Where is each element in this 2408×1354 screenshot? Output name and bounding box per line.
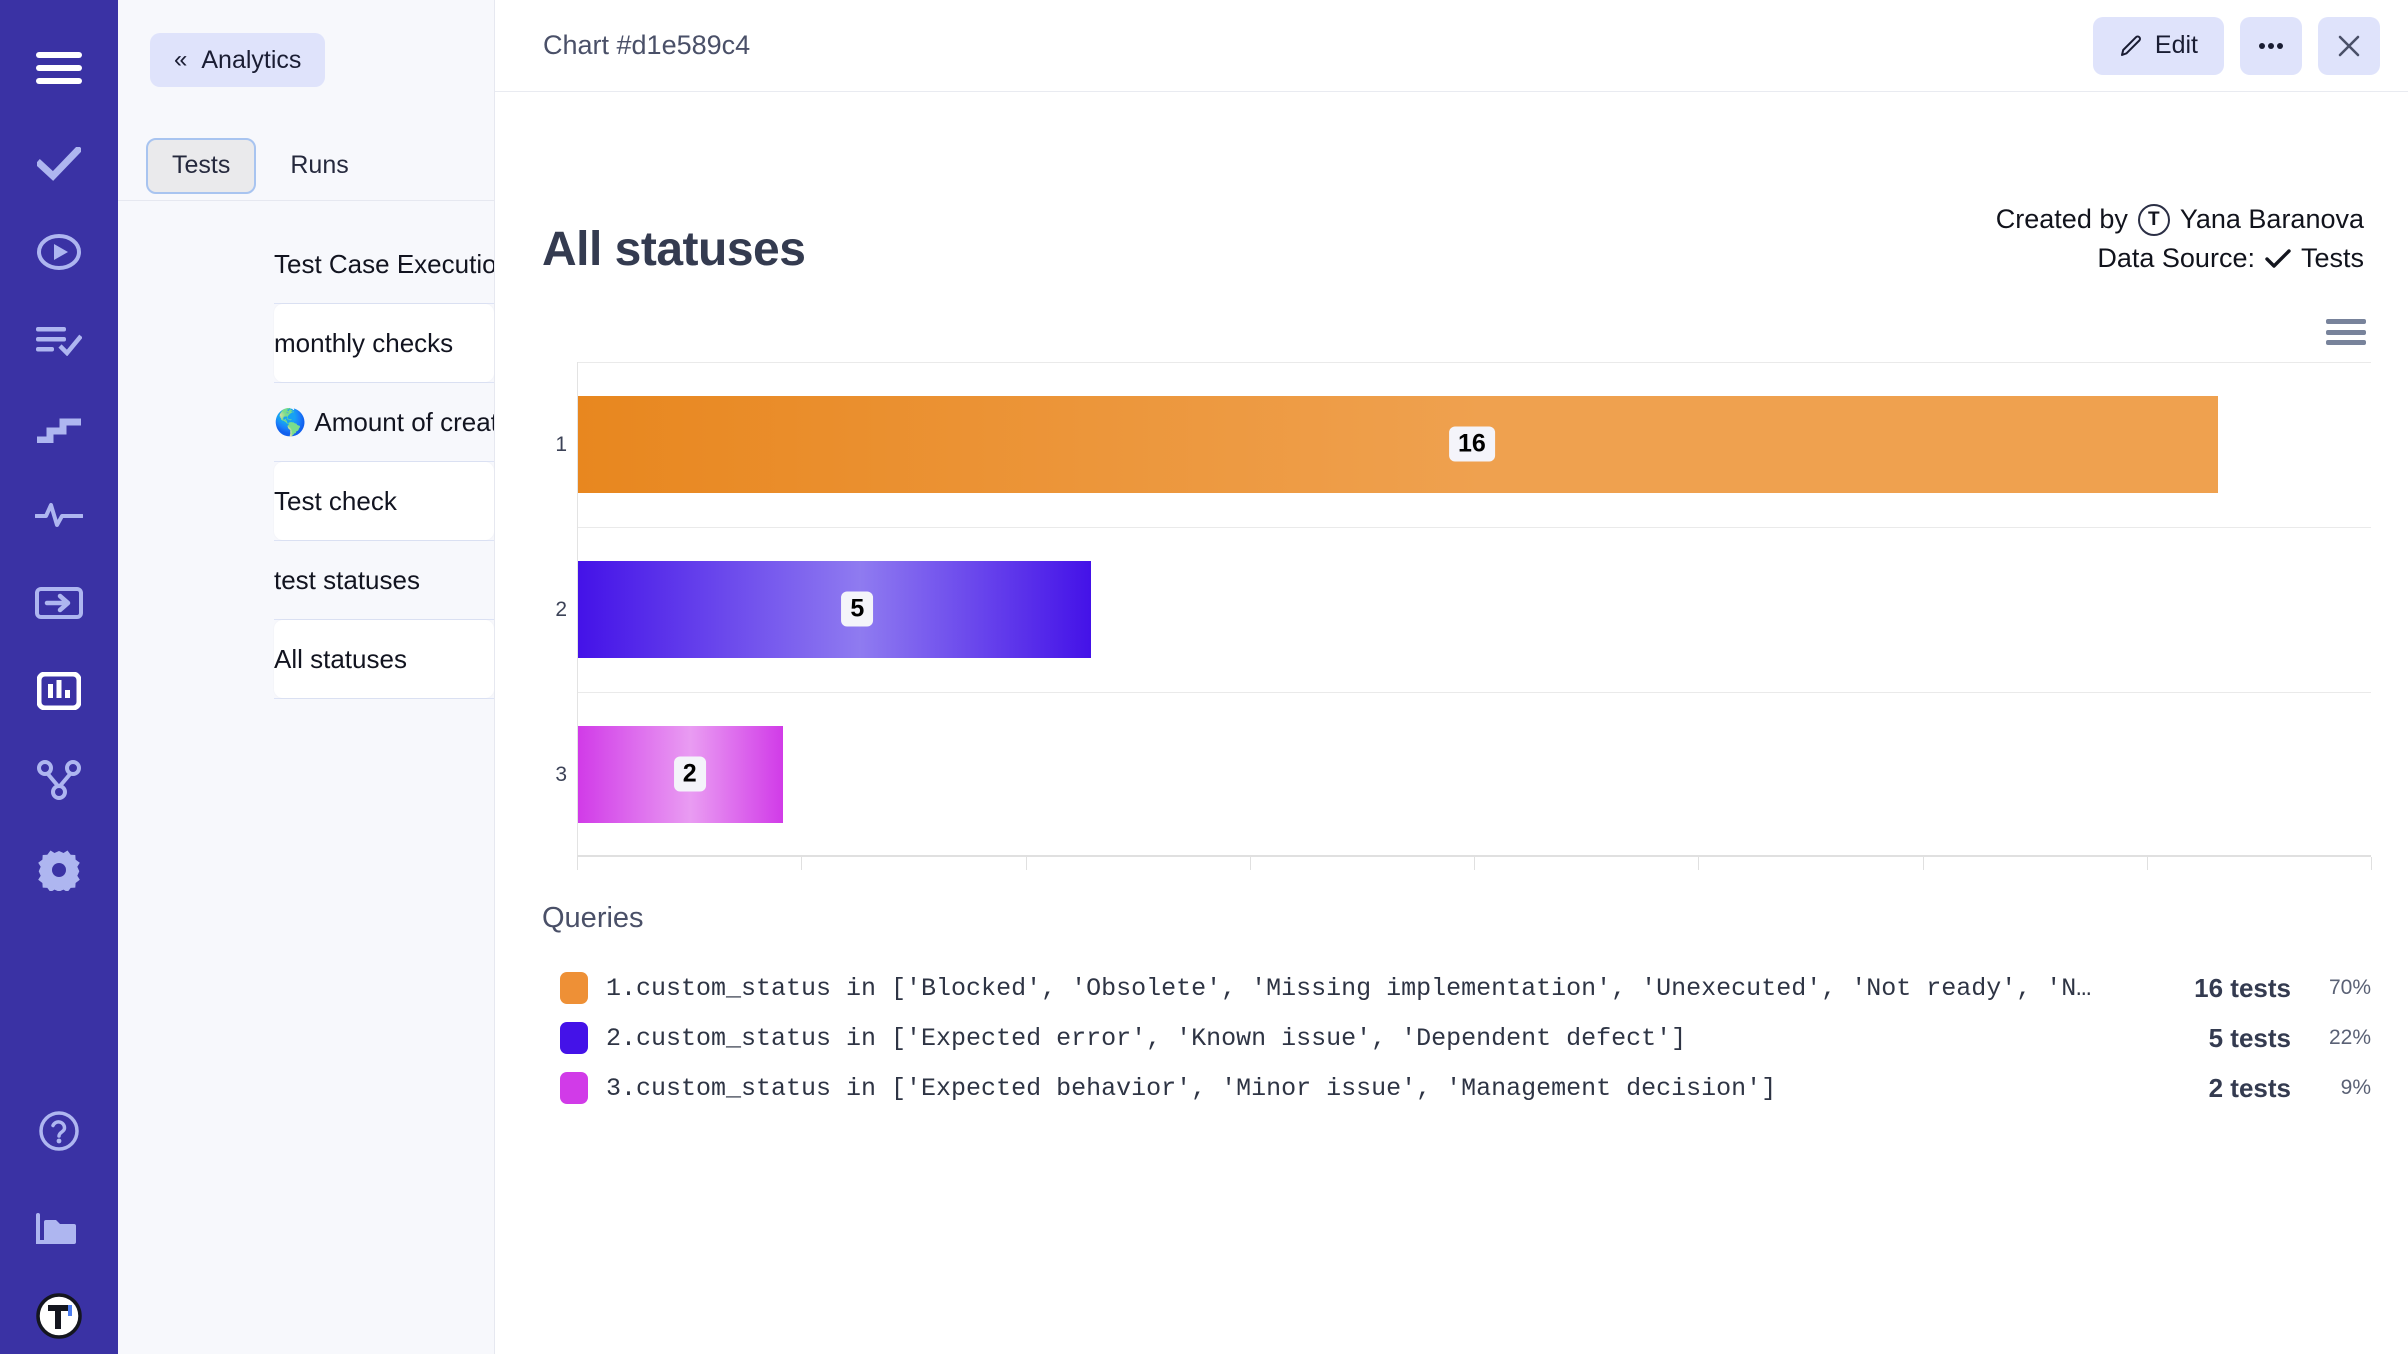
menu-line (2326, 340, 2366, 345)
bar-value-label: 2 (674, 757, 706, 792)
query-color-swatch (560, 1072, 588, 1104)
x-axis-tick (577, 857, 578, 870)
query-color-swatch (560, 1022, 588, 1054)
help-circle-icon[interactable] (0, 1101, 118, 1161)
chart-title: All statuses (542, 222, 805, 277)
list-divider (274, 698, 494, 699)
y-axis-label: 1 (543, 433, 567, 457)
explorer-tab-bar: Tests Runs (118, 131, 494, 201)
list-item-label: Amount of created and (314, 407, 495, 438)
pulse-icon[interactable] (0, 485, 118, 545)
list-item-label: Test Case Execution - Mo (274, 249, 495, 280)
ellipsis-icon (2258, 42, 2284, 50)
list-item[interactable]: Test Case Execution - Mo (274, 225, 494, 303)
gear-icon[interactable] (0, 840, 118, 900)
check-icon[interactable] (0, 134, 118, 194)
chart-list: Test Case Execution - Mo monthly checks … (118, 201, 494, 699)
app-root: « Analytics Ch (0, 0, 2408, 1354)
list-item[interactable]: test statuses (274, 541, 494, 619)
x-axis-tick (801, 857, 802, 870)
list-item-label: All statuses (274, 644, 407, 675)
analytics-explorer-panel: « Analytics Ch (118, 0, 495, 1354)
pencil-icon (2119, 34, 2143, 58)
x-axis-tick (1698, 857, 1699, 870)
query-count: 5 tests (2161, 1023, 2291, 1054)
left-nav-rail (0, 0, 118, 1354)
query-percent: 22% (2309, 1026, 2371, 1050)
checklist-icon[interactable] (0, 310, 118, 370)
list-item[interactable]: monthly checks (274, 304, 494, 382)
close-panel-button[interactable] (2318, 17, 2380, 75)
user-avatar[interactable] (0, 1286, 118, 1346)
query-count: 16 tests (2161, 973, 2291, 1004)
play-circle-icon[interactable] (0, 222, 118, 282)
x-axis-tick (1026, 857, 1027, 870)
list-item-label: test statuses (274, 565, 420, 596)
queries-section: Queries 1.custom_status in ['Blocked', '… (542, 902, 2371, 1113)
created-by-label: Created by (1996, 200, 2128, 239)
created-by-row: Created by T Yana Baranova (1996, 200, 2364, 239)
stairs-icon[interactable] (0, 397, 118, 457)
folders-icon[interactable] (0, 1198, 118, 1258)
bar[interactable]: 5 (578, 561, 1091, 658)
data-source-label: Data Source: (2097, 239, 2255, 278)
list-item[interactable]: Test check (274, 462, 494, 540)
x-axis-tick (1250, 857, 1251, 870)
gridline (577, 692, 2371, 693)
list-item[interactable]: 🌎 Amount of created and (274, 383, 494, 461)
gridline (577, 527, 2371, 528)
query-text: 3.custom_status in ['Expected behavior',… (606, 1074, 2143, 1103)
bar-value-label: 5 (841, 592, 873, 627)
list-item-label: Test check (274, 486, 397, 517)
more-options-button[interactable] (2240, 17, 2302, 75)
bar-chart-plot: 1162532 (577, 362, 2371, 857)
chevron-left-double-icon: « (174, 48, 187, 72)
queries-title: Queries (542, 902, 2371, 935)
bar-chart-icon[interactable] (0, 661, 118, 721)
query-text: 2.custom_status in ['Expected error', 'K… (606, 1024, 2143, 1053)
chart-header: Chart #d1e589c4 Edit (495, 0, 2408, 92)
query-percent: 9% (2309, 1076, 2371, 1100)
query-count: 2 tests (2161, 1073, 2291, 1104)
y-axis-label: 2 (543, 598, 567, 622)
data-source-row: Data Source: Tests (1996, 239, 2364, 278)
menu-line (2326, 330, 2366, 335)
close-icon (2337, 34, 2361, 58)
author-name: Yana Baranova (2180, 200, 2364, 239)
import-icon[interactable] (0, 573, 118, 633)
x-axis-tick (1474, 857, 1475, 870)
globe-emoji-icon: 🌎 (274, 407, 306, 438)
gridline (577, 362, 2371, 363)
bar[interactable]: 16 (578, 396, 2218, 493)
edit-button[interactable]: Edit (2093, 17, 2224, 75)
data-source-value: Tests (2301, 239, 2364, 278)
query-percent: 70% (2309, 976, 2371, 1000)
x-axis-tick (2147, 857, 2148, 870)
git-branch-icon[interactable] (0, 750, 118, 810)
chart-id-title: Chart #d1e589c4 (543, 30, 2077, 61)
author-avatar: T (2138, 204, 2170, 236)
bar-value-label: 16 (1449, 427, 1495, 462)
bar[interactable]: 2 (578, 726, 783, 823)
query-text: 1.custom_status in ['Blocked', 'Obsolete… (606, 974, 2143, 1003)
tab-tests[interactable]: Tests (146, 138, 256, 194)
x-axis-tick (2371, 857, 2372, 870)
check-icon (2265, 249, 2291, 269)
query-row[interactable]: 1.custom_status in ['Blocked', 'Obsolete… (542, 963, 2371, 1013)
edit-button-label: Edit (2155, 31, 2198, 60)
query-color-swatch (560, 972, 588, 1004)
analytics-back-button[interactable]: « Analytics (150, 33, 325, 87)
chart-context-menu-button[interactable] (2326, 319, 2366, 345)
query-row[interactable]: 2.custom_status in ['Expected error', 'K… (542, 1013, 2371, 1063)
y-axis-label: 3 (543, 763, 567, 787)
menu-line (2326, 319, 2366, 324)
chart-detail-panel: Chart #d1e589c4 Edit All statuses Create… (495, 0, 2408, 1354)
x-axis-tick (1923, 857, 1924, 870)
menu-icon[interactable] (0, 38, 118, 98)
list-item[interactable]: All statuses (274, 620, 494, 698)
tab-runs[interactable]: Runs (264, 138, 374, 194)
query-row[interactable]: 3.custom_status in ['Expected behavior',… (542, 1063, 2371, 1113)
explorer-top-bar: « Analytics Ch (118, 0, 494, 131)
chart-body: All statuses Created by T Yana Baranova … (495, 92, 2408, 1354)
chart-meta: Created by T Yana Baranova Data Source: … (1996, 200, 2364, 278)
analytics-button-label: Analytics (201, 46, 301, 75)
list-item-label: monthly checks (274, 328, 453, 359)
